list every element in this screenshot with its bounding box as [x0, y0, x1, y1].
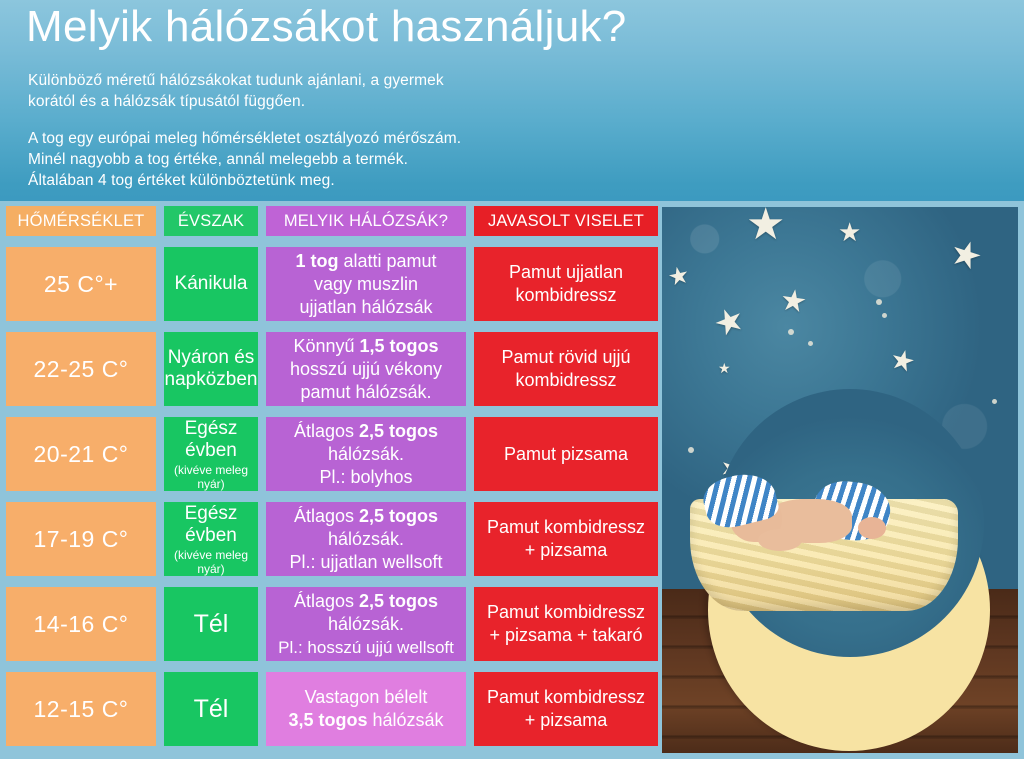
- bag-highlight: 1,5 togos: [360, 336, 439, 356]
- intro-line-3: A tog egy európai meleg hőmérsékletet os…: [28, 128, 461, 149]
- column-gap: [258, 206, 266, 236]
- bag-text: Pl.: ujjatlan wellsoft: [289, 552, 442, 572]
- bag-highlight: 3,5 togos: [288, 710, 367, 730]
- season-text: Egész évben: [185, 418, 238, 461]
- bag-text: hálózsák.: [328, 529, 404, 549]
- row-gap: [6, 236, 156, 247]
- bag-text: alatti pamut: [338, 251, 436, 271]
- bag-highlight: 2,5 togos: [359, 506, 438, 526]
- page-title: Melyik hálózsákot használjuk?: [26, 2, 627, 53]
- table-row: Vastagon bélelt 3,5 togos hálózsák: [266, 672, 466, 746]
- table-grid: HŐMÉRSÉKLET ÉVSZAK MELYIK HÁLÓZSÁK? JAVA…: [6, 206, 656, 746]
- intro-spacer: [28, 112, 461, 128]
- bag-text: Könnyű: [293, 336, 359, 356]
- bag-highlight: 1 tog: [295, 251, 338, 271]
- season-note: (kivéve meleg nyár): [169, 463, 253, 491]
- star-dot-icon: [688, 447, 694, 453]
- table-row: 20-21 C°: [6, 417, 156, 491]
- table-row: 17-19 C°: [6, 502, 156, 576]
- table-row: Pamut rövid ujjú kombidressz: [474, 332, 658, 406]
- star-dot-icon: [876, 299, 882, 305]
- bag-highlight: 2,5 togos: [359, 421, 438, 441]
- table-row: Egész évben (kivéve meleg nyár): [164, 417, 258, 491]
- bag-text: hálózsák.: [328, 444, 404, 464]
- intro-text: Különböző méretű hálózsákokat tudunk ajá…: [28, 70, 461, 191]
- table-row: Egész évben (kivéve meleg nyár): [164, 502, 258, 576]
- bag-text: Pl.: bolyhos: [319, 467, 412, 487]
- comparison-table: HŐMÉRSÉKLET ÉVSZAK MELYIK HÁLÓZSÁK? JAVA…: [0, 201, 660, 759]
- bag-text: ujjatlan hálózsák: [299, 297, 432, 317]
- bag-text: hálózsák: [367, 710, 443, 730]
- column-header-wear: JAVASOLT VISELET: [474, 206, 658, 236]
- bag-text: Pl.: hosszú ujjú wellsoft: [278, 638, 454, 657]
- star-icon: ★: [666, 263, 692, 291]
- header-band: Melyik hálózsákot használjuk? Különböző …: [0, 0, 1024, 201]
- bag-text: Átlagos: [294, 591, 359, 611]
- column-header-bag: MELYIK HÁLÓZSÁK?: [266, 206, 466, 236]
- bag-text: Átlagos: [294, 421, 359, 441]
- table-row: 22-25 C°: [6, 332, 156, 406]
- table-row: Nyáron és napközben: [164, 332, 258, 406]
- wear-text: Pamut kombidressz: [487, 687, 645, 707]
- wear-text: + pizsama: [525, 710, 608, 730]
- table-row: Tél: [164, 672, 258, 746]
- table-row: Pamut ujjatlan kombidressz: [474, 247, 658, 321]
- bag-text: pamut hálózsák.: [300, 382, 431, 402]
- baby-photo: ★ ★ ★ ★ ★ ★ ★ ★ ★ ★: [662, 207, 1018, 753]
- table-row: 1 tog alatti pamut vagy muszlin ujjatlan…: [266, 247, 466, 321]
- intro-line-2: korától és a hálózsák típusától függően.: [28, 91, 461, 112]
- wear-text: + pizsama + takaró: [489, 625, 642, 645]
- table-row: Pamut kombidressz + pizsama: [474, 502, 658, 576]
- table-row: 12-15 C°: [6, 672, 156, 746]
- wear-text: + pizsama: [525, 540, 608, 560]
- star-icon: ★: [746, 207, 785, 247]
- season-note: (kivéve meleg nyár): [169, 548, 253, 576]
- table-row: Pamut kombidressz + pizsama + takaró: [474, 587, 658, 661]
- star-icon: ★: [838, 219, 861, 245]
- table-row: Tél: [164, 587, 258, 661]
- table-row: Pamut pizsama: [474, 417, 658, 491]
- star-icon: ★: [778, 285, 809, 318]
- star-icon: ★: [718, 361, 731, 375]
- star-dot-icon: [808, 341, 813, 346]
- star-dot-icon: [788, 329, 794, 335]
- table-row: Könnyű 1,5 togos hosszú ujjú vékony pamu…: [266, 332, 466, 406]
- table-row: 14-16 C°: [6, 587, 156, 661]
- wear-text: kombidressz: [515, 370, 616, 390]
- intro-line-1: Különböző méretű hálózsákokat tudunk ajá…: [28, 70, 461, 91]
- column-header-season: ÉVSZAK: [164, 206, 258, 236]
- table-row: Átlagos 2,5 togos hálózsák. Pl.: bolyhos: [266, 417, 466, 491]
- star-dot-icon: [882, 313, 887, 318]
- bag-text: Vastagon bélelt: [305, 687, 428, 707]
- wear-text: kombidressz: [515, 285, 616, 305]
- table-row: 25 C°+: [6, 247, 156, 321]
- wear-text: Pamut ujjatlan: [509, 262, 623, 282]
- intro-line-5: Általában 4 tog értéket különböztetünk m…: [28, 170, 461, 191]
- wear-text: Pamut kombidressz: [487, 602, 645, 622]
- column-gap: [466, 206, 474, 236]
- table-row: Átlagos 2,5 togos hálózsák. Pl.: hosszú …: [266, 587, 466, 661]
- season-text: Egész évben: [185, 503, 238, 546]
- bag-text: vagy muszlin: [314, 274, 418, 294]
- table-row: Pamut kombidressz + pizsama: [474, 672, 658, 746]
- infographic-root: Melyik hálózsákot használjuk? Különböző …: [0, 0, 1024, 759]
- wear-text: Pamut rövid ujjú: [501, 347, 630, 367]
- bag-text: hosszú ujjú vékony: [290, 359, 442, 379]
- column-header-temperature: HŐMÉRSÉKLET: [6, 206, 156, 236]
- bag-text: Átlagos: [294, 506, 359, 526]
- column-gap: [156, 206, 164, 236]
- table-row: Kánikula: [164, 247, 258, 321]
- baby-hands: [758, 529, 802, 551]
- bag-text: hálózsák.: [328, 614, 404, 634]
- baby-foot: [858, 517, 886, 539]
- bag-highlight: 2,5 togos: [359, 591, 438, 611]
- table-row: Átlagos 2,5 togos hálózsák. Pl.: ujjatla…: [266, 502, 466, 576]
- star-dot-icon: [992, 399, 997, 404]
- wear-text: Pamut kombidressz: [487, 517, 645, 537]
- intro-line-4: Minél nagyobb a tog értéke, annál melege…: [28, 149, 461, 170]
